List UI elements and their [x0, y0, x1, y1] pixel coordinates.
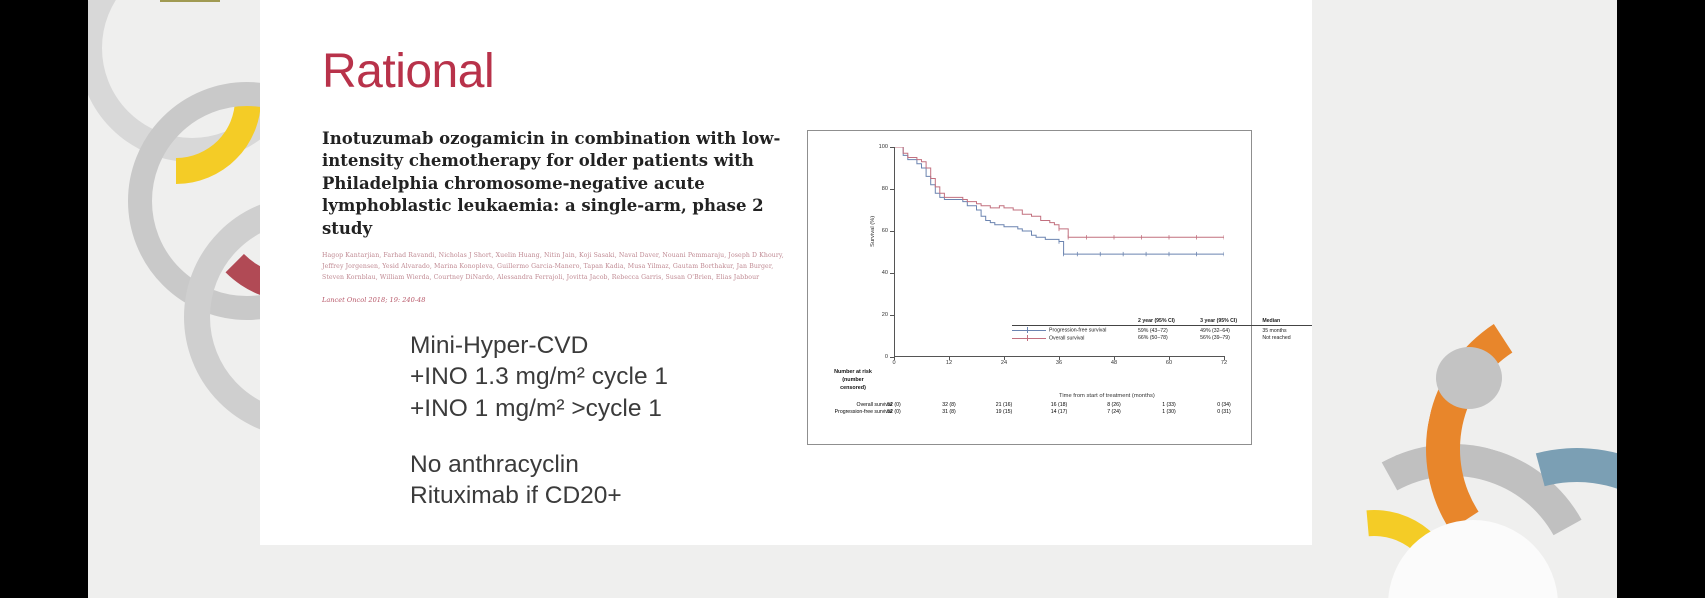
y-tick-label: 20 [882, 312, 888, 318]
letterbox-bar-left [0, 0, 88, 598]
bullet-line: Mini-Hyper-CVD [410, 330, 668, 361]
number-at-risk-body: Overall survival52 (0)32 (8)21 (16)16 (1… [814, 401, 1246, 415]
survival-figure: Survival (%) Time from start of treatmen… [807, 130, 1252, 445]
y-tick-label: 40 [882, 270, 888, 276]
legend-body: Progression-free survival59% (43–72)49% … [1012, 326, 1312, 342]
page-title: Rational [322, 44, 494, 99]
x-tick-label: 48 [1111, 360, 1117, 366]
number-at-risk-header-line: Number at risk [814, 369, 892, 377]
number-at-risk-cell: 19 (15) [990, 408, 1018, 415]
legend-col-blank [1012, 318, 1138, 326]
number-at-risk-header-line: (number [814, 377, 892, 385]
x-tick-label: 60 [1166, 360, 1172, 366]
x-tick-label: 24 [1001, 360, 1007, 366]
y-tick-label: 60 [882, 228, 888, 234]
slide-canvas: Rational Inotuzumab ozogamicin in combin… [88, 0, 1617, 598]
x-axis-label: Time from start of treatment (months) [1059, 393, 1155, 399]
legend-value-three-year: 56% (39–79) [1200, 334, 1262, 342]
number-at-risk-row: Progression-free survival52 (0)31 (8)19 … [814, 408, 1246, 415]
paper-title: Inotuzumab ozogamicin in combination wit… [322, 128, 792, 240]
y-axis [894, 147, 895, 357]
legend-table: 2 year (95% CI) 3 year (95% CI) Median P… [1012, 318, 1312, 342]
legend-row: Overall survival66% (50–78)56% (39–79)No… [1012, 334, 1312, 342]
bullet-line: +INO 1 mg/m² >cycle 1 [410, 393, 668, 424]
number-at-risk-cell: 52 (0) [880, 408, 908, 415]
chart-legend-stats: 2 year (95% CI) 3 year (95% CI) Median P… [1012, 318, 1312, 342]
y-tick [890, 147, 894, 148]
legend-series-name: Overall survival [1049, 336, 1084, 342]
legend-value-three-year: 49% (32–64) [1200, 326, 1262, 334]
legend-value-two-year: 59% (43–72) [1138, 326, 1200, 334]
legend-series-label: Progression-free survival [1012, 326, 1138, 334]
paper-reference-block: Inotuzumab ozogamicin in combination wit… [322, 128, 792, 304]
legend-series-name: Progression-free survival [1049, 328, 1106, 334]
x-tick-label: 12 [946, 360, 952, 366]
paper-authors: Hagop Kantarjian, Farhad Ravandi, Nichol… [322, 251, 792, 284]
y-axis-label: Survival (%) [870, 216, 876, 247]
bullet-line: No anthracyclin [410, 449, 668, 480]
screenshot-stage: Rational Inotuzumab ozogamicin in combin… [0, 0, 1705, 598]
legend-value-median: 35 months [1262, 326, 1312, 334]
number-at-risk-cell: 7 (24) [1100, 408, 1128, 415]
legend-col-2year: 2 year (95% CI) [1138, 318, 1200, 326]
legend-swatch-icon [1012, 327, 1046, 333]
curve-overall-survival [894, 147, 1224, 237]
y-tick-label: 80 [882, 186, 888, 192]
legend-header-row: 2 year (95% CI) 3 year (95% CI) Median [1012, 318, 1312, 326]
kaplan-meier-plot: 020406080100 0122436486072 2 year (95% C… [894, 147, 1224, 357]
y-tick [890, 315, 894, 316]
letterbox-bar-right [1617, 0, 1705, 598]
legend-value-median: Not reached [1262, 334, 1312, 342]
bullet-line: +INO 1.3 mg/m² cycle 1 [410, 361, 668, 392]
legend-value-two-year: 66% (50–78) [1138, 334, 1200, 342]
bullet-line: Rituximab if CD20+ [410, 480, 668, 511]
legend-col-median: Median [1262, 318, 1312, 326]
number-at-risk-row: Overall survival52 (0)32 (8)21 (16)16 (1… [814, 401, 1246, 408]
number-at-risk-cell: 1 (30) [1155, 408, 1183, 415]
number-at-risk-header: Number at risk(numbercensored) [814, 369, 892, 392]
y-tick-label: 0 [885, 354, 888, 360]
x-tick-label: 36 [1056, 360, 1062, 366]
number-at-risk-table: Overall survival52 (0)32 (8)21 (16)16 (1… [814, 401, 1246, 415]
legend-swatch-icon [1012, 335, 1046, 341]
y-tick [890, 231, 894, 232]
curve-progression-free-survival [894, 147, 1224, 254]
number-at-risk-cell: 0 (31) [1210, 408, 1238, 415]
x-tick-label: 72 [1221, 360, 1227, 366]
treatment-regimen-text: Mini-Hyper-CVD +INO 1.3 mg/m² cycle 1 +I… [410, 330, 668, 512]
y-tick-label: 100 [879, 144, 888, 150]
x-tick-label: 0 [892, 360, 895, 366]
y-tick [890, 189, 894, 190]
y-tick [890, 273, 894, 274]
number-at-risk-header-line: censored) [814, 385, 892, 393]
number-at-risk-cell: 31 (8) [935, 408, 963, 415]
number-at-risk-cell: 14 (17) [1045, 408, 1073, 415]
legend-col-3year: 3 year (95% CI) [1200, 318, 1262, 326]
legend-row: Progression-free survival59% (43–72)49% … [1012, 326, 1312, 334]
decor-gray-dot [1436, 347, 1502, 409]
paper-citation: Lancet Oncol 2018; 19: 240-48 [322, 296, 792, 304]
legend-series-label: Overall survival [1012, 334, 1138, 342]
